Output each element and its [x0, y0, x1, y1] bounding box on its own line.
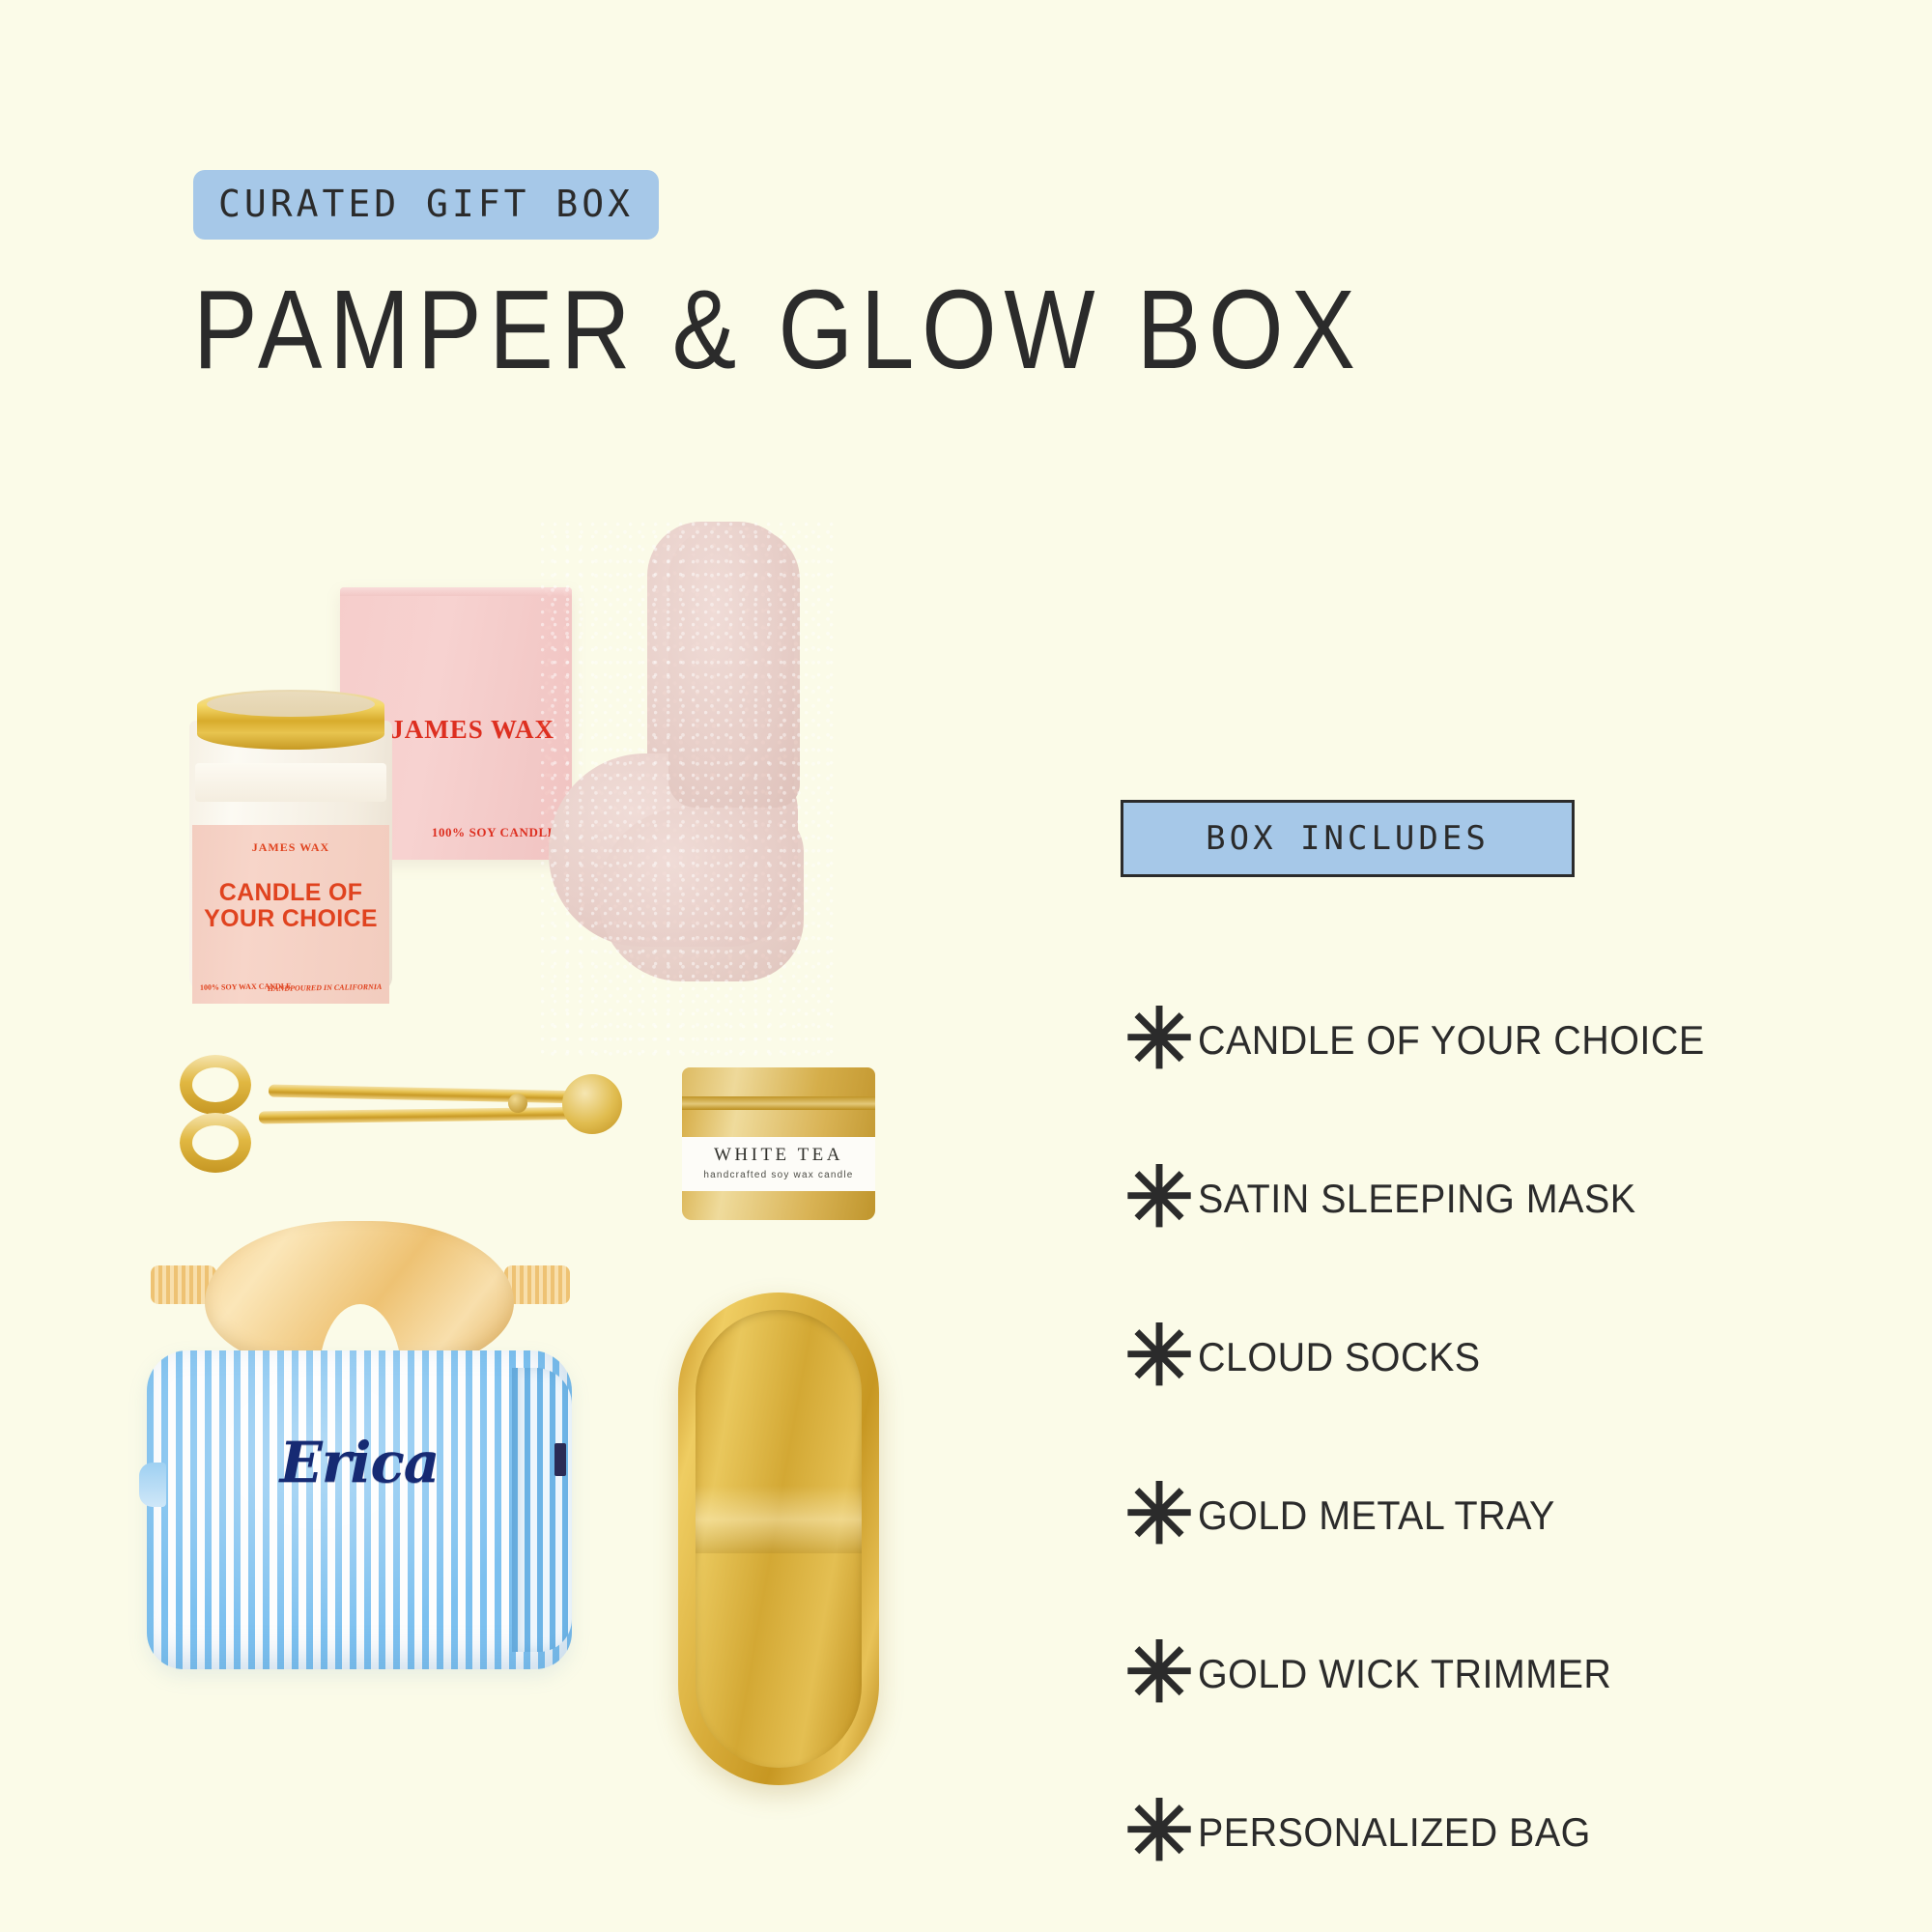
list-item: ✳GOLD METAL TRAY	[1121, 1468, 1575, 1563]
jar-gold-lid	[197, 690, 384, 750]
list-item: ✳CLOUD SOCKS	[1121, 1310, 1575, 1405]
product-collage: JAMES WAX 100% SOY CANDLE JAMES WAX CAND…	[0, 0, 1063, 1932]
box-includes-list: ✳CANDLE OF YOUR CHOICE✳SATIN SLEEPING MA…	[1121, 993, 1575, 1932]
cloud-socks	[541, 522, 840, 1063]
trimmer-handle-ring-lower	[180, 1113, 251, 1173]
asterisk-bullet-icon: ✳	[1121, 1334, 1198, 1379]
list-item-label: GOLD METAL TRAY	[1198, 1492, 1555, 1539]
candle-jar: JAMES WAX CANDLE OF YOUR CHOICE 100% SOY…	[189, 686, 392, 991]
tray-reflection	[696, 1486, 862, 1553]
tin-label-title: WHITE TEA	[682, 1145, 875, 1166]
jar-glass: JAMES WAX CANDLE OF YOUR CHOICE 100% SOY…	[189, 721, 392, 991]
list-item: ✳CANDLE OF YOUR CHOICE	[1121, 993, 1575, 1088]
box-includes-panel: BOX INCLUDES ✳CANDLE OF YOUR CHOICE✳SATI…	[1121, 800, 1575, 1932]
white-tea-tin-candle: WHITE TEA handcrafted soy wax candle	[682, 1067, 875, 1220]
gold-wick-trimmer	[164, 1053, 628, 1207]
tin-rim	[682, 1096, 875, 1110]
list-item: ✳PERSONALIZED BAG	[1121, 1785, 1575, 1880]
gold-metal-tray	[678, 1293, 879, 1785]
tin-label: WHITE TEA handcrafted soy wax candle	[682, 1137, 875, 1191]
trimmer-handle-ring-upper	[180, 1055, 251, 1115]
bag-highlight	[147, 1350, 572, 1669]
sock-leg-front	[668, 527, 800, 808]
carton-subtitle-text: 100% SOY CANDLE	[432, 825, 556, 840]
jar-label: JAMES WAX CANDLE OF YOUR CHOICE 100% SOY…	[192, 825, 389, 1004]
tin-label-subtitle: handcrafted soy wax candle	[682, 1170, 875, 1180]
trimmer-arm-upper	[269, 1085, 587, 1104]
bag-embroidered-name: Erica	[147, 1430, 572, 1495]
personalized-seersucker-bag: Erica	[147, 1350, 572, 1669]
jar-label-title: CANDLE OF YOUR CHOICE	[192, 880, 389, 932]
bag-side-panel	[512, 1368, 572, 1652]
asterisk-bullet-icon: ✳	[1121, 1017, 1198, 1063]
list-item: ✳SATIN SLEEPING MASK	[1121, 1151, 1575, 1246]
list-item: ✳GOLD WICK TRIMMER	[1121, 1627, 1575, 1721]
list-item-label: CLOUD SOCKS	[1198, 1334, 1481, 1380]
box-includes-heading: BOX INCLUDES	[1121, 800, 1575, 877]
jar-label-footer-right: HANDPOURED IN CALIFORNIA	[268, 982, 382, 993]
trimmer-pivot-screw	[508, 1094, 527, 1113]
list-item-label: PERSONALIZED BAG	[1198, 1809, 1591, 1856]
jar-wax	[195, 763, 386, 802]
list-item-label: SATIN SLEEPING MASK	[1198, 1176, 1636, 1222]
list-item-label: GOLD WICK TRIMMER	[1198, 1651, 1611, 1697]
asterisk-bullet-icon: ✳	[1121, 1176, 1198, 1221]
trimmer-arm-lower	[259, 1107, 597, 1124]
sock-foot-front	[599, 808, 804, 981]
asterisk-bullet-icon: ✳	[1121, 1809, 1198, 1855]
mask-strap-right	[504, 1265, 570, 1304]
trimmer-cutting-head	[562, 1074, 622, 1134]
list-item-label: CANDLE OF YOUR CHOICE	[1198, 1017, 1705, 1064]
asterisk-bullet-icon: ✳	[1121, 1492, 1198, 1538]
asterisk-bullet-icon: ✳	[1121, 1651, 1198, 1696]
jar-label-brand: JAMES WAX	[192, 840, 389, 855]
